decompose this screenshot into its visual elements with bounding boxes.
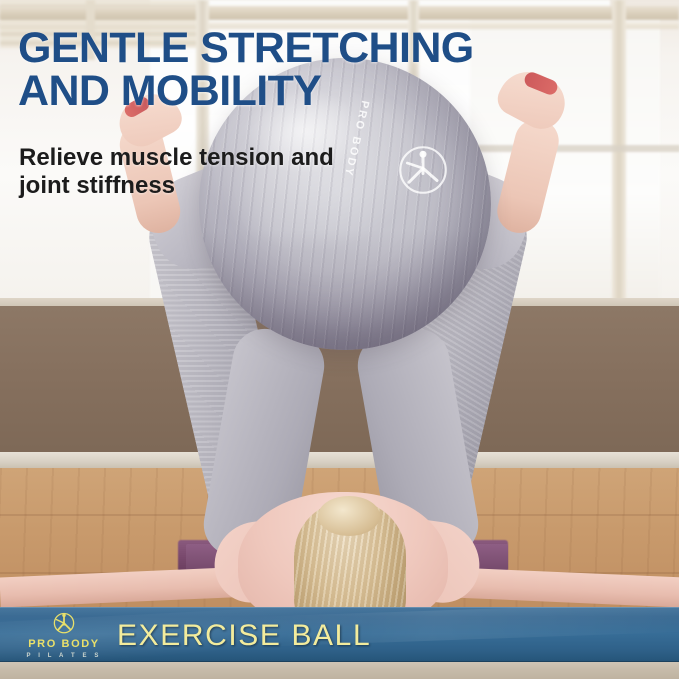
below-banner-floor: [0, 662, 679, 679]
product-name-label: EXERCISE BALL: [117, 619, 371, 653]
bottom-banner: PRO BODY P I L A T E S EXERCISE BALL: [0, 607, 679, 662]
page-title: GENTLE STRETCHING AND MOBILITY: [18, 27, 474, 112]
brand-subtitle: P I L A T E S: [27, 653, 102, 659]
left-arm: [0, 567, 251, 608]
brand-logo-block: PRO BODY P I L A T E S: [16, 611, 112, 659]
page-subtitle: Relieve muscle tension and joint stiffne…: [19, 144, 334, 201]
hair-bun: [318, 496, 380, 536]
product-infographic-poster: PRO BODY GENTLE STRETCHING AND MOBILITY …: [0, 0, 679, 679]
pro-body-circle-figure-icon: [47, 610, 81, 638]
ball-bottom-shadow: [199, 230, 491, 350]
pro-body-circle-figure-icon: [395, 142, 451, 198]
right-shin: [493, 114, 564, 237]
brand-name: PRO BODY: [28, 639, 99, 650]
